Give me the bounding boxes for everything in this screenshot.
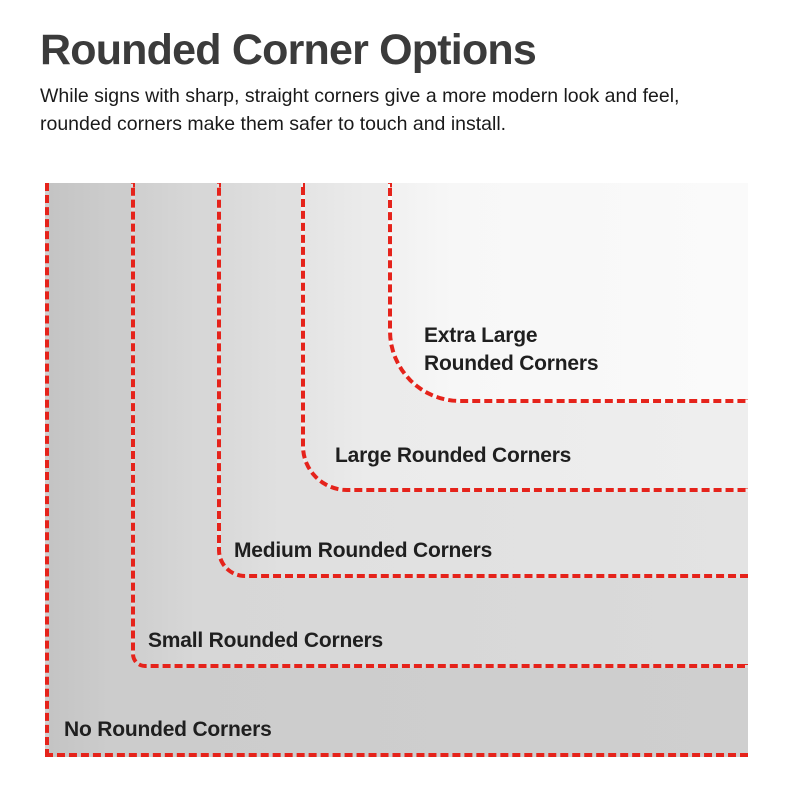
corner-label-small-rounded: Small Rounded Corners: [148, 627, 383, 655]
corner-label-medium-rounded: Medium Rounded Corners: [234, 537, 492, 565]
corner-options-diagram: No Rounded Corners Small Rounded Corners…: [0, 0, 800, 800]
corner-label-extra-large-rounded: Extra Large Rounded Corners: [424, 322, 598, 379]
corner-label-no-rounded: No Rounded Corners: [64, 716, 272, 744]
corner-label-large-rounded: Large Rounded Corners: [335, 442, 571, 470]
